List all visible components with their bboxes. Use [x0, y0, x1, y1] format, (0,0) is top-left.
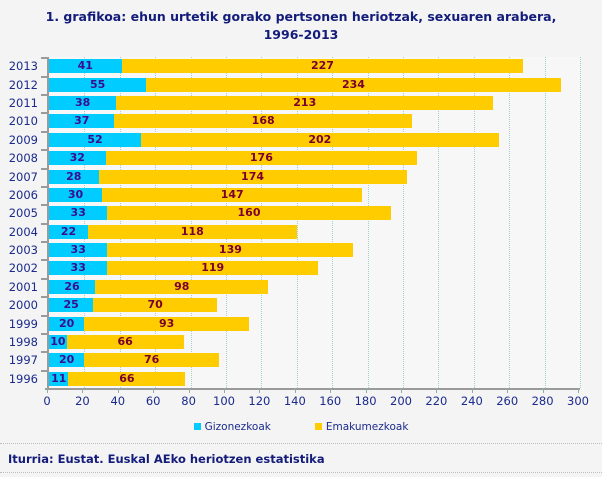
y-tick	[41, 204, 47, 206]
bar-segment-emakumezkoak[interactable]: 76	[84, 353, 219, 367]
bar-value-label: 20	[49, 353, 84, 367]
bar-value-label: 37	[49, 114, 114, 128]
chart-legend: GizonezkoakEmakumezkoak	[0, 421, 602, 433]
bar-row[interactable]: 22118	[49, 225, 580, 239]
y-tick	[41, 57, 47, 59]
bar-value-label: 160	[107, 206, 390, 220]
bar-row[interactable]: 2076	[49, 353, 580, 367]
y-axis-category-label: 1999	[0, 317, 38, 331]
x-axis-tick-label: 280	[523, 394, 563, 408]
y-axis-category-label: 2001	[0, 280, 38, 294]
footer-divider-top	[0, 443, 602, 445]
y-axis-category-label: 1996	[0, 372, 38, 386]
bar-segment-gizonezkoak[interactable]: 55	[49, 78, 146, 92]
y-axis-category-label: 2006	[0, 188, 38, 202]
bar-value-label: 55	[49, 78, 146, 92]
bar-row[interactable]: 37168	[49, 114, 580, 128]
y-tick	[41, 131, 47, 133]
bar-segment-gizonezkoak[interactable]: 22	[49, 225, 88, 239]
bar-value-label: 168	[114, 114, 411, 128]
x-axis-tick-label: 40	[98, 394, 138, 408]
bar-segment-gizonezkoak[interactable]: 20	[49, 353, 84, 367]
legend-swatch-icon	[315, 423, 322, 430]
x-tick	[259, 388, 260, 393]
bar-segment-emakumezkoak[interactable]: 202	[141, 133, 499, 147]
x-tick	[82, 388, 83, 393]
y-axis-category-label: 2004	[0, 225, 38, 239]
y-axis-category-label: 2003	[0, 243, 38, 257]
x-tick	[189, 388, 190, 393]
x-tick	[224, 388, 225, 393]
x-tick	[401, 388, 402, 393]
x-tick	[366, 388, 367, 393]
y-tick	[41, 333, 47, 335]
bar-value-label: 33	[49, 206, 107, 220]
y-axis-category-label: 2007	[0, 170, 38, 184]
bar-value-label: 119	[107, 261, 318, 275]
x-axis-tick-label: 160	[310, 394, 350, 408]
y-tick	[41, 168, 47, 170]
bar-segment-gizonezkoak[interactable]: 37	[49, 114, 114, 128]
bar-segment-emakumezkoak[interactable]: 168	[114, 114, 411, 128]
bar-segment-emakumezkoak[interactable]: 93	[84, 317, 249, 331]
bar-segment-gizonezkoak[interactable]: 11	[49, 372, 68, 386]
y-axis-category-label: 2002	[0, 261, 38, 275]
y-axis-category-label: 2010	[0, 114, 38, 128]
y-axis-category-label: 2008	[0, 151, 38, 165]
bar-value-label: 234	[146, 78, 560, 92]
bar-value-label: 227	[122, 59, 524, 73]
bar-segment-emakumezkoak[interactable]: 118	[88, 225, 297, 239]
bar-row[interactable]: 2093	[49, 317, 580, 331]
x-tick	[47, 388, 48, 393]
bar-segment-emakumezkoak[interactable]: 70	[93, 298, 217, 312]
x-axis-tick-label: 80	[169, 394, 209, 408]
bar-segment-gizonezkoak[interactable]: 26	[49, 280, 95, 294]
bar-segment-gizonezkoak[interactable]: 20	[49, 317, 84, 331]
x-axis-tick-label: 300	[558, 394, 598, 408]
bar-value-label: 70	[93, 298, 217, 312]
bar-segment-emakumezkoak[interactable]: 139	[107, 243, 353, 257]
bar-segment-gizonezkoak[interactable]: 28	[49, 170, 99, 184]
y-tick	[41, 223, 47, 225]
bar-segment-emakumezkoak[interactable]: 66	[67, 335, 184, 349]
y-axis-category-label: 1998	[0, 335, 38, 349]
plot-area: 4122755234382133716852202321762817430147…	[47, 57, 580, 388]
x-tick	[436, 388, 437, 393]
bar-value-label: 30	[49, 188, 102, 202]
legend-label: Gizonezkoak	[205, 421, 271, 433]
bar-row[interactable]: 30147	[49, 188, 580, 202]
bar-value-label: 26	[49, 280, 95, 294]
bar-value-label: 213	[116, 96, 493, 110]
bar-row[interactable]: 28174	[49, 170, 580, 184]
bar-segment-gizonezkoak[interactable]: 38	[49, 96, 116, 110]
x-axis-tick-label: 140	[275, 394, 315, 408]
source-note: Iturria: Eustat. Euskal AEko heriotzen e…	[8, 452, 325, 466]
bar-value-label: 20	[49, 317, 84, 331]
x-axis-tick-label: 200	[381, 394, 421, 408]
y-tick	[41, 370, 47, 372]
y-tick	[41, 149, 47, 151]
bar-value-label: 98	[95, 280, 268, 294]
chart-title: 1. grafikoa: ehun urtetik gorako pertson…	[0, 8, 602, 44]
footer-divider-bottom	[0, 472, 602, 474]
bar-segment-gizonezkoak[interactable]: 33	[49, 261, 107, 275]
bar-value-label: 41	[49, 59, 122, 73]
y-axis-category-label: 2000	[0, 298, 38, 312]
bar-segment-gizonezkoak[interactable]: 30	[49, 188, 102, 202]
bar-row[interactable]: 38213	[49, 96, 580, 110]
bar-row[interactable]: 1166	[49, 372, 580, 386]
gridline	[580, 57, 581, 388]
bar-value-label: 93	[84, 317, 249, 331]
bar-value-label: 139	[107, 243, 353, 257]
bar-value-label: 22	[49, 225, 88, 239]
legend-item-emakumezkoak[interactable]: Emakumezkoak	[315, 421, 409, 433]
bar-value-label: 11	[49, 372, 68, 386]
bar-value-label: 66	[68, 372, 185, 386]
y-tick	[41, 112, 47, 114]
bar-segment-emakumezkoak[interactable]: 119	[107, 261, 318, 275]
bar-value-label: 33	[49, 261, 107, 275]
bar-value-label: 176	[106, 151, 418, 165]
x-tick	[507, 388, 508, 393]
bar-row[interactable]: 55234	[49, 78, 580, 92]
x-axis-tick-label: 120	[239, 394, 279, 408]
x-tick	[118, 388, 119, 393]
bar-segment-gizonezkoak[interactable]: 10	[49, 335, 67, 349]
bar-row[interactable]: 41227	[49, 59, 580, 73]
bar-segment-emakumezkoak[interactable]: 213	[116, 96, 493, 110]
bar-value-label: 28	[49, 170, 99, 184]
bar-value-label: 10	[49, 335, 67, 349]
bar-row[interactable]: 33160	[49, 206, 580, 220]
y-axis-category-label: 2012	[0, 78, 38, 92]
chart-container: 1. grafikoa: ehun urtetik gorako pertson…	[0, 0, 602, 477]
legend-item-gizonezkoak[interactable]: Gizonezkoak	[194, 421, 271, 433]
x-tick	[578, 388, 579, 393]
bar-row[interactable]: 2698	[49, 280, 580, 294]
chart-title-line1: 1. grafikoa: ehun urtetik gorako pertson…	[46, 9, 557, 24]
bar-row[interactable]: 33119	[49, 261, 580, 275]
x-tick	[543, 388, 544, 393]
bar-segment-gizonezkoak[interactable]: 33	[49, 206, 107, 220]
bar-segment-emakumezkoak[interactable]: 98	[95, 280, 268, 294]
y-tick	[41, 278, 47, 280]
bar-row[interactable]: 52202	[49, 133, 580, 147]
y-tick	[41, 351, 47, 353]
legend-label: Emakumezkoak	[326, 421, 409, 433]
y-axis-category-label: 2009	[0, 133, 38, 147]
x-axis-tick-label: 180	[346, 394, 386, 408]
x-axis-tick-label: 240	[452, 394, 492, 408]
x-axis-line	[45, 388, 580, 390]
x-tick	[153, 388, 154, 393]
y-axis-category-label: 2013	[0, 59, 38, 73]
bar-segment-gizonezkoak[interactable]: 41	[49, 59, 122, 73]
x-axis-tick-label: 0	[27, 394, 67, 408]
bar-row[interactable]: 2570	[49, 298, 580, 312]
bar-value-label: 38	[49, 96, 116, 110]
x-axis-tick-label: 20	[62, 394, 102, 408]
bar-value-label: 66	[67, 335, 184, 349]
bar-value-label: 147	[102, 188, 362, 202]
bar-row[interactable]: 33139	[49, 243, 580, 257]
x-tick	[295, 388, 296, 393]
bar-segment-gizonezkoak[interactable]: 33	[49, 243, 107, 257]
y-tick	[41, 296, 47, 298]
y-axis-category-label: 1997	[0, 353, 38, 367]
x-axis-tick-label: 220	[416, 394, 456, 408]
y-axis-category-label: 2005	[0, 206, 38, 220]
y-axis-category-label: 2011	[0, 96, 38, 110]
x-axis-tick-label: 60	[133, 394, 173, 408]
chart-title-line2: 1996-2013	[0, 26, 602, 44]
y-tick	[41, 259, 47, 261]
bar-value-label: 32	[49, 151, 106, 165]
bar-segment-emakumezkoak[interactable]: 234	[146, 78, 560, 92]
bar-segment-gizonezkoak[interactable]: 32	[49, 151, 106, 165]
bar-value-label: 52	[49, 133, 141, 147]
x-axis-tick-label: 100	[204, 394, 244, 408]
bar-row[interactable]: 1066	[49, 335, 580, 349]
bar-value-label: 25	[49, 298, 93, 312]
bar-row[interactable]: 32176	[49, 151, 580, 165]
bar-segment-emakumezkoak[interactable]: 160	[107, 206, 390, 220]
y-tick	[41, 94, 47, 96]
x-axis-tick-label: 260	[487, 394, 527, 408]
x-tick	[472, 388, 473, 393]
bar-value-label: 33	[49, 243, 107, 257]
y-tick	[41, 315, 47, 317]
bar-value-label: 174	[99, 170, 407, 184]
bar-value-label: 118	[88, 225, 297, 239]
bar-segment-emakumezkoak[interactable]: 176	[106, 151, 418, 165]
bar-segment-emakumezkoak[interactable]: 147	[102, 188, 362, 202]
bar-segment-emakumezkoak[interactable]: 66	[68, 372, 185, 386]
bar-segment-gizonezkoak[interactable]: 52	[49, 133, 141, 147]
y-tick	[41, 76, 47, 78]
y-tick	[41, 186, 47, 188]
legend-swatch-icon	[194, 423, 201, 430]
bar-segment-gizonezkoak[interactable]: 25	[49, 298, 93, 312]
y-tick	[41, 241, 47, 243]
bar-segment-emakumezkoak[interactable]: 174	[99, 170, 407, 184]
bar-value-label: 76	[84, 353, 219, 367]
bar-segment-emakumezkoak[interactable]: 227	[122, 59, 524, 73]
x-tick	[330, 388, 331, 393]
bar-value-label: 202	[141, 133, 499, 147]
